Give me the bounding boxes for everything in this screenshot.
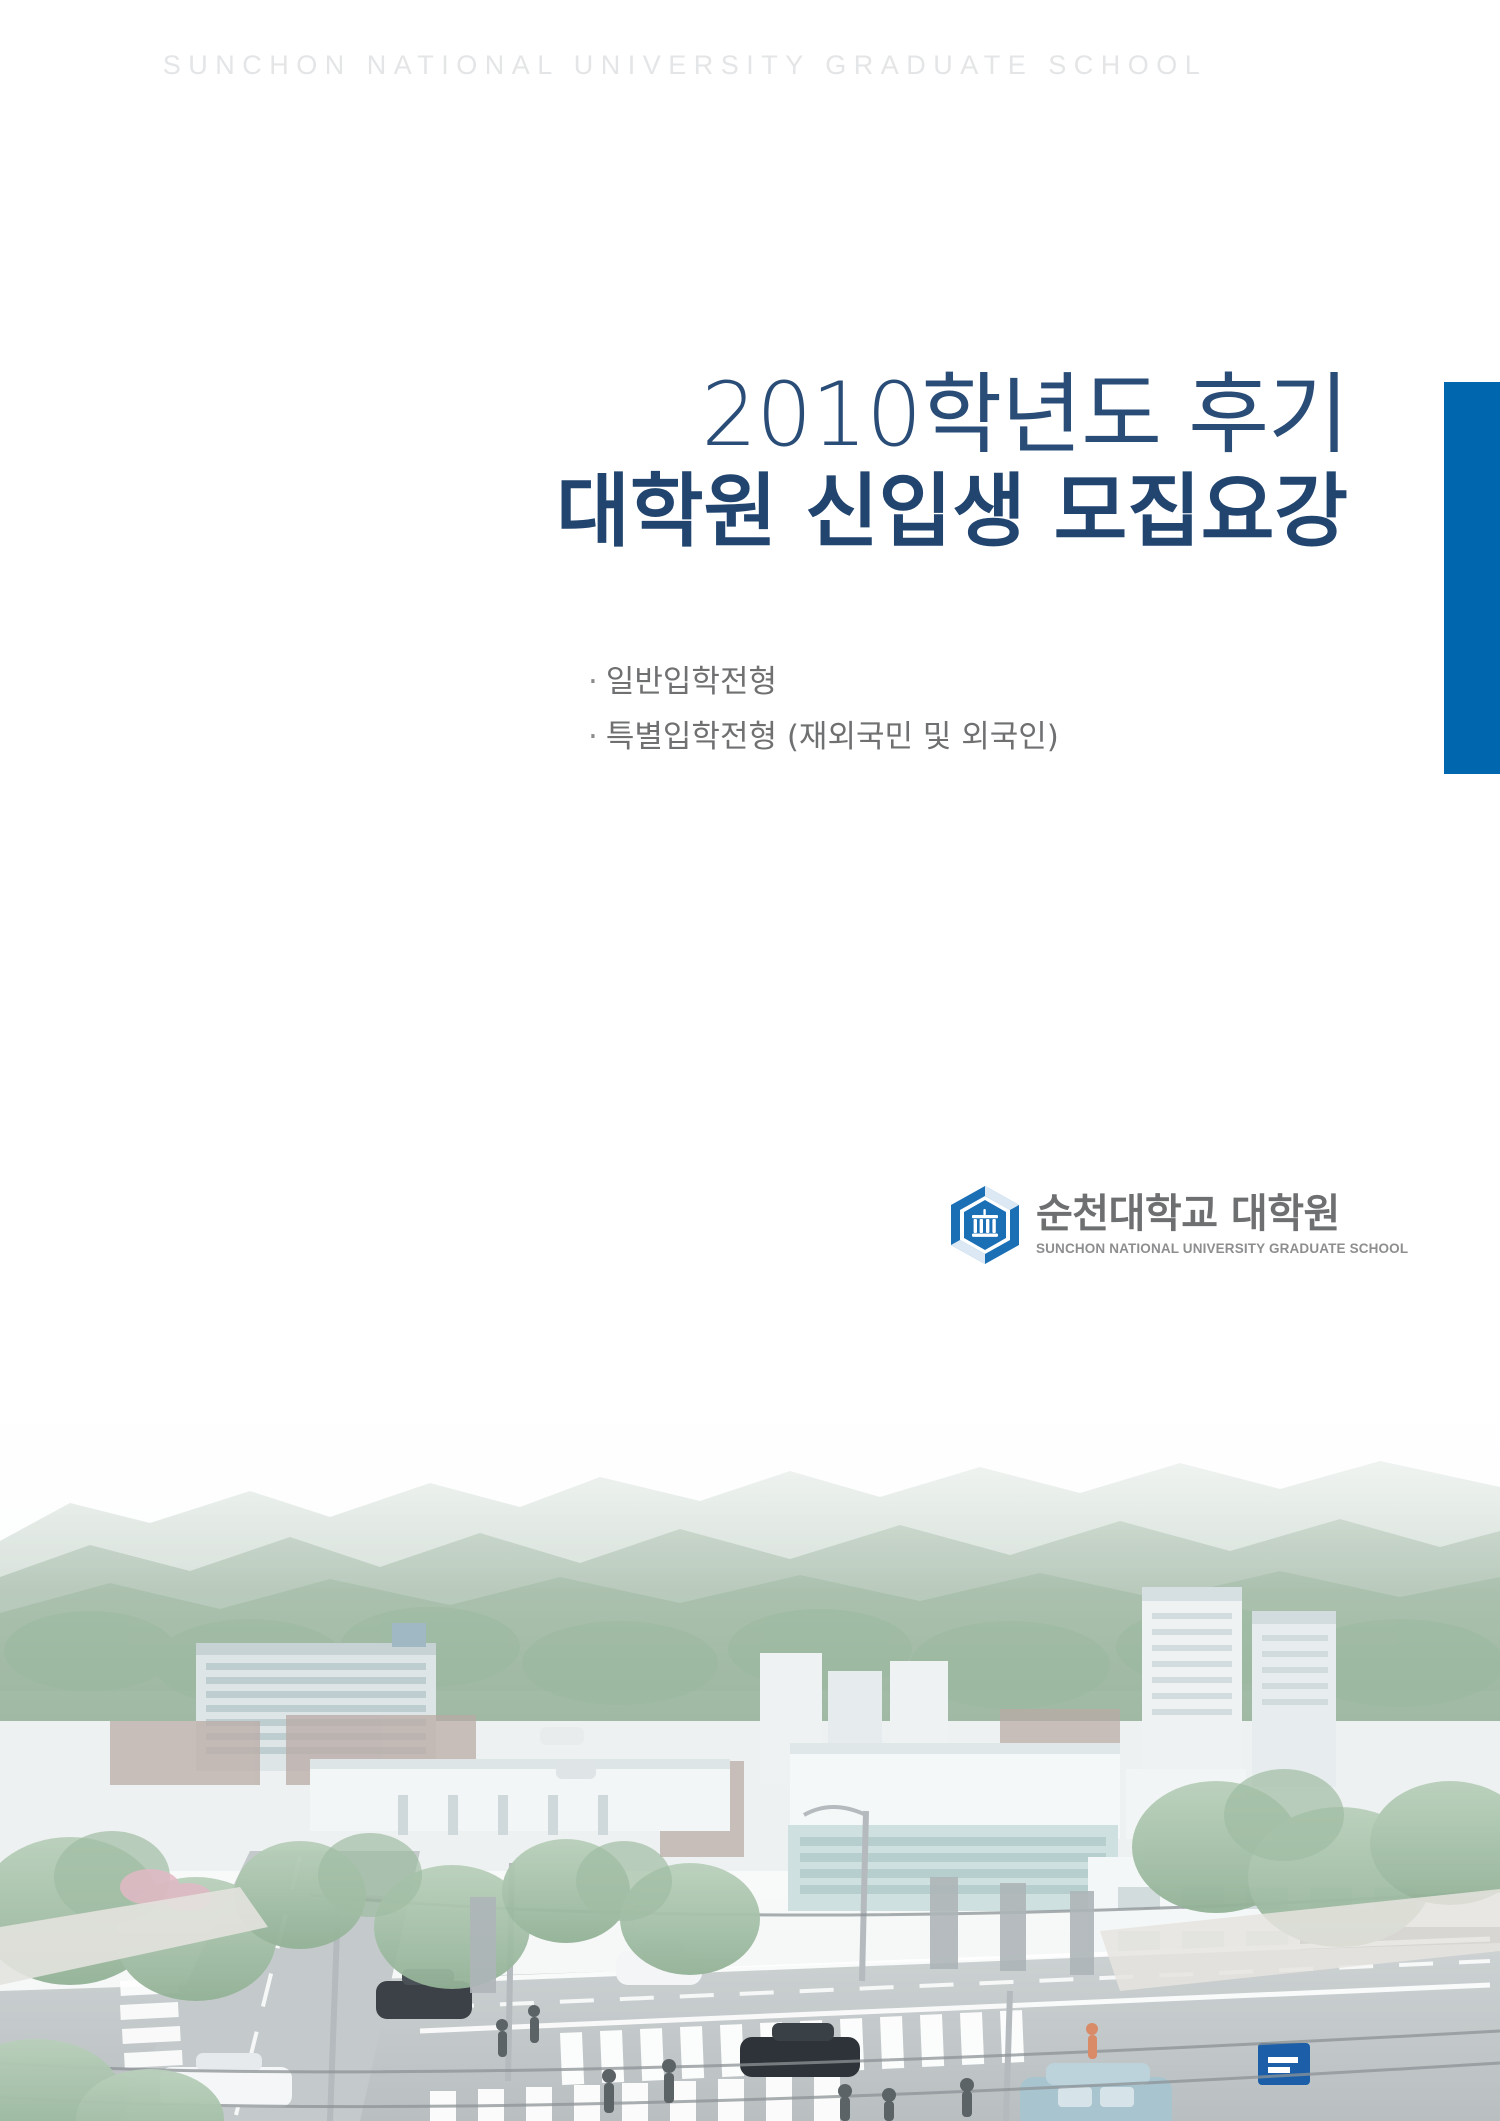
logo-korean-name: 순천대학교 대학원 (1036, 1194, 1408, 1234)
accent-bar (1444, 382, 1500, 774)
bullet-dot: · (588, 664, 598, 700)
running-head: SUNCHON NATIONAL UNIVERSITY GRADUATE SCH… (0, 50, 1370, 81)
list-item: ·특별입학전형 (재외국민 및 외국인) (588, 710, 1059, 765)
sunchon-university-hexagon-emblem-icon (948, 1185, 1022, 1265)
logo-wordmark: 순천대학교 대학원 SUNCHON NATIONAL UNIVERSITY GR… (1036, 1194, 1408, 1256)
admission-type-list: ·일반입학전형 ·특별입학전형 (재외국민 및 외국인) (588, 655, 1059, 765)
campus-photograph (0, 1291, 1500, 2121)
university-logo: 순천대학교 대학원 SUNCHON NATIONAL UNIVERSITY GR… (948, 1185, 1408, 1265)
list-item: ·일반입학전형 (588, 655, 1059, 710)
page-title-main: 대학원 신입생 모집요강 (398, 467, 1348, 557)
bullet-dot: · (588, 719, 598, 755)
title-block: 2010학년도 후기 대학원 신입생 모집요강 (398, 368, 1348, 557)
page-title-year: 2010학년도 후기 (398, 368, 1348, 461)
list-item-label: 일반입학전형 (606, 664, 777, 700)
logo-english-name: SUNCHON NATIONAL UNIVERSITY GRADUATE SCH… (1036, 1241, 1408, 1256)
cover-page: SUNCHON NATIONAL UNIVERSITY GRADUATE SCH… (0, 0, 1500, 2121)
list-item-label: 특별입학전형 (재외국민 및 외국인) (606, 719, 1059, 755)
